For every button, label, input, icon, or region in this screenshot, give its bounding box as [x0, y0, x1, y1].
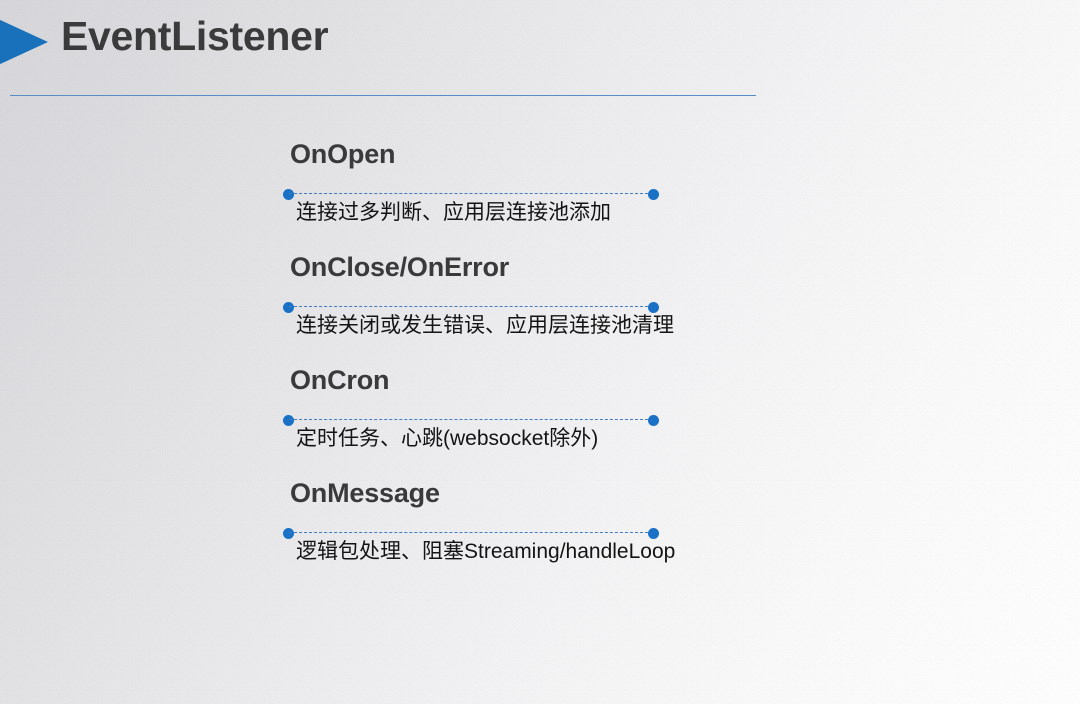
play-triangle-icon [0, 18, 48, 66]
event-list: OnOpen 连接过多判断、应用层连接池添加 OnClose/OnError 连… [283, 138, 1043, 590]
header-divider [10, 95, 756, 96]
event-name: OnClose/OnError [290, 251, 509, 285]
event-description: 逻辑包处理、阻塞Streaming/handleLoop [296, 538, 675, 565]
event-description: 定时任务、心跳(websocket除外) [296, 425, 598, 452]
event-description: 连接关闭或发生错误、应用层连接池清理 [296, 312, 674, 339]
connector-dash [289, 193, 653, 194]
connector-dot-left [283, 189, 294, 200]
connector-dot-right [648, 189, 659, 200]
list-item: OnMessage 逻辑包处理、阻塞Streaming/handleLoop [283, 477, 1043, 590]
page-title: EventListener [61, 11, 328, 62]
connector-dot-left [283, 302, 294, 313]
connector-dash [289, 306, 653, 307]
connector-dot-right [648, 415, 659, 426]
connector-dash [289, 532, 653, 533]
connector-dash [289, 419, 653, 420]
connector-dot-left [283, 528, 294, 539]
event-name: OnOpen [290, 138, 395, 172]
list-item: OnCron 定时任务、心跳(websocket除外) [283, 364, 1043, 477]
slide-canvas: EventListener OnOpen 连接过多判断、应用层连接池添加 OnC… [0, 0, 1080, 704]
list-item: OnOpen 连接过多判断、应用层连接池添加 [283, 138, 1043, 251]
list-item: OnClose/OnError 连接关闭或发生错误、应用层连接池清理 [283, 251, 1043, 364]
slide-header: EventListener [0, 0, 1080, 100]
event-name: OnMessage [290, 477, 440, 511]
connector-dot-left [283, 415, 294, 426]
event-description: 连接过多判断、应用层连接池添加 [296, 199, 611, 226]
event-name: OnCron [290, 364, 389, 398]
